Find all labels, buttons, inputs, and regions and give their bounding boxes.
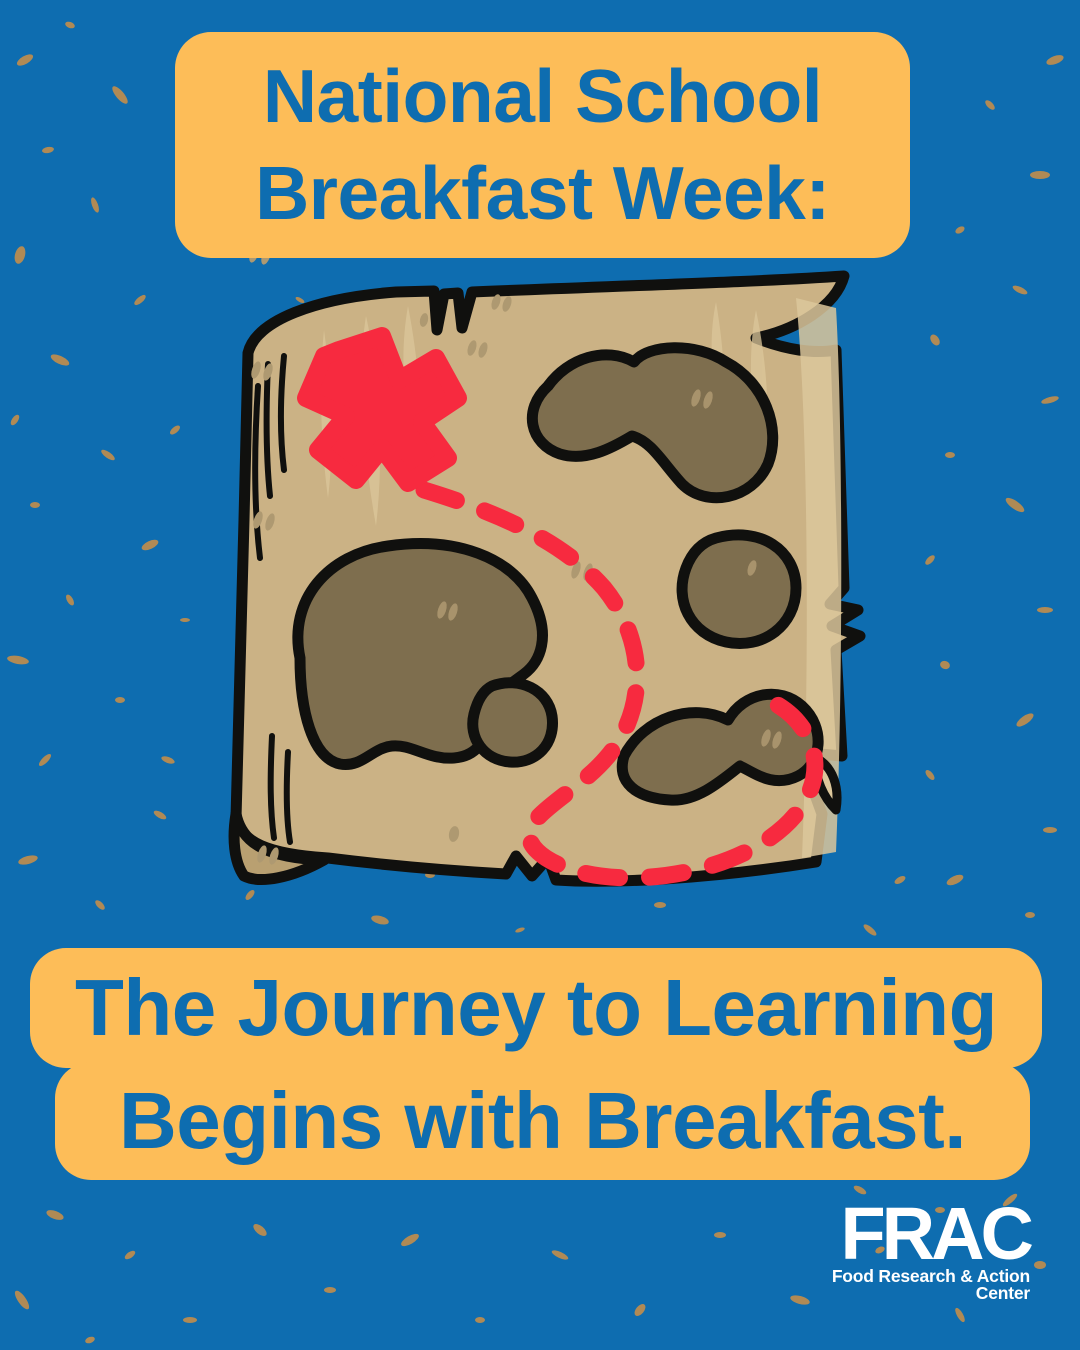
headline-line-1: National School <box>263 59 822 134</box>
headline-line-2: Breakfast Week: <box>255 156 830 231</box>
poster-canvas: National School Breakfast Week: <box>0 0 1080 1350</box>
landmass-small-round <box>473 683 553 762</box>
tagline-banner-line-2: Begins with Breakfast. <box>55 1062 1030 1180</box>
treasure-map-illustration <box>196 258 886 930</box>
top-headline-banner: National School Breakfast Week: <box>175 32 910 258</box>
frac-tagline: Food Research & Action Center <box>812 1268 1030 1303</box>
x-marks-the-spot-icon <box>306 336 458 483</box>
frac-logo: FRAC Food Research & Action Center <box>812 1204 1030 1300</box>
tagline-line-2: Begins with Breakfast. <box>119 1081 966 1161</box>
frac-wordmark: FRAC <box>812 1204 1030 1265</box>
landmass-east-oval <box>682 535 796 644</box>
tagline-line-1: The Journey to Learning <box>75 968 997 1048</box>
tagline-banner-line-1: The Journey to Learning <box>30 948 1042 1068</box>
